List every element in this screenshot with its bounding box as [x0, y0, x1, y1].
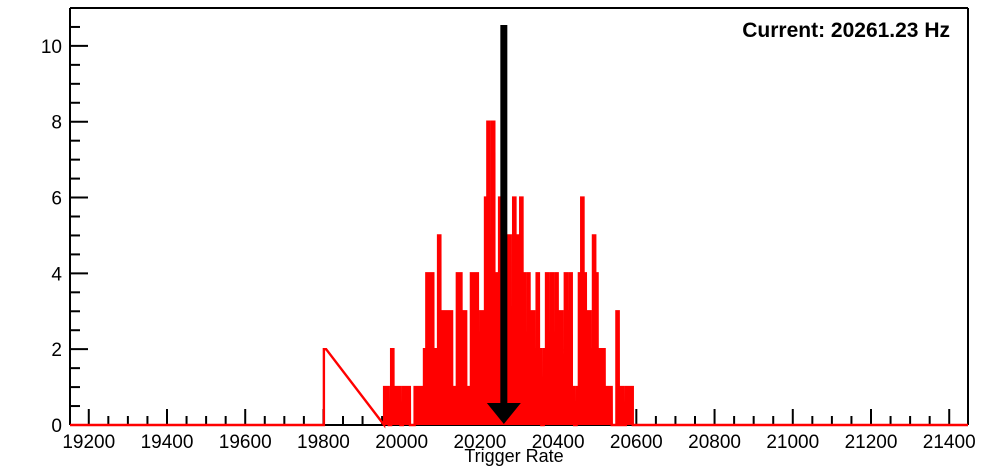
x-tick-label: 21400	[923, 432, 976, 453]
x-tick-label: 19800	[297, 432, 350, 453]
x-tick-label: 21000	[766, 432, 819, 453]
x-tick-label: 19400	[141, 432, 194, 453]
chart-canvas: 0246810 19200194001960019800200002020020…	[0, 0, 996, 472]
y-tick-label: 4	[51, 264, 62, 285]
y-tick-label: 10	[41, 37, 62, 58]
trigger-rate-histogram: 0246810 19200194001960019800200002020020…	[0, 0, 996, 472]
x-tick-label: 19200	[62, 432, 115, 453]
x-tick-label: 20000	[375, 432, 428, 453]
x-axis-title: Trigger Rate	[464, 446, 563, 466]
y-tick-label: 6	[51, 189, 62, 210]
y-tick-label: 8	[51, 113, 62, 134]
y-tick-label: 0	[51, 416, 62, 437]
current-rate-label: Current: 20261.23 Hz	[742, 19, 950, 42]
x-tick-label: 21200	[845, 432, 898, 453]
x-tick-label: 20800	[688, 432, 741, 453]
x-tick-label: 20600	[610, 432, 663, 453]
y-tick-label: 2	[51, 340, 62, 361]
x-tick-label: 19600	[219, 432, 272, 453]
